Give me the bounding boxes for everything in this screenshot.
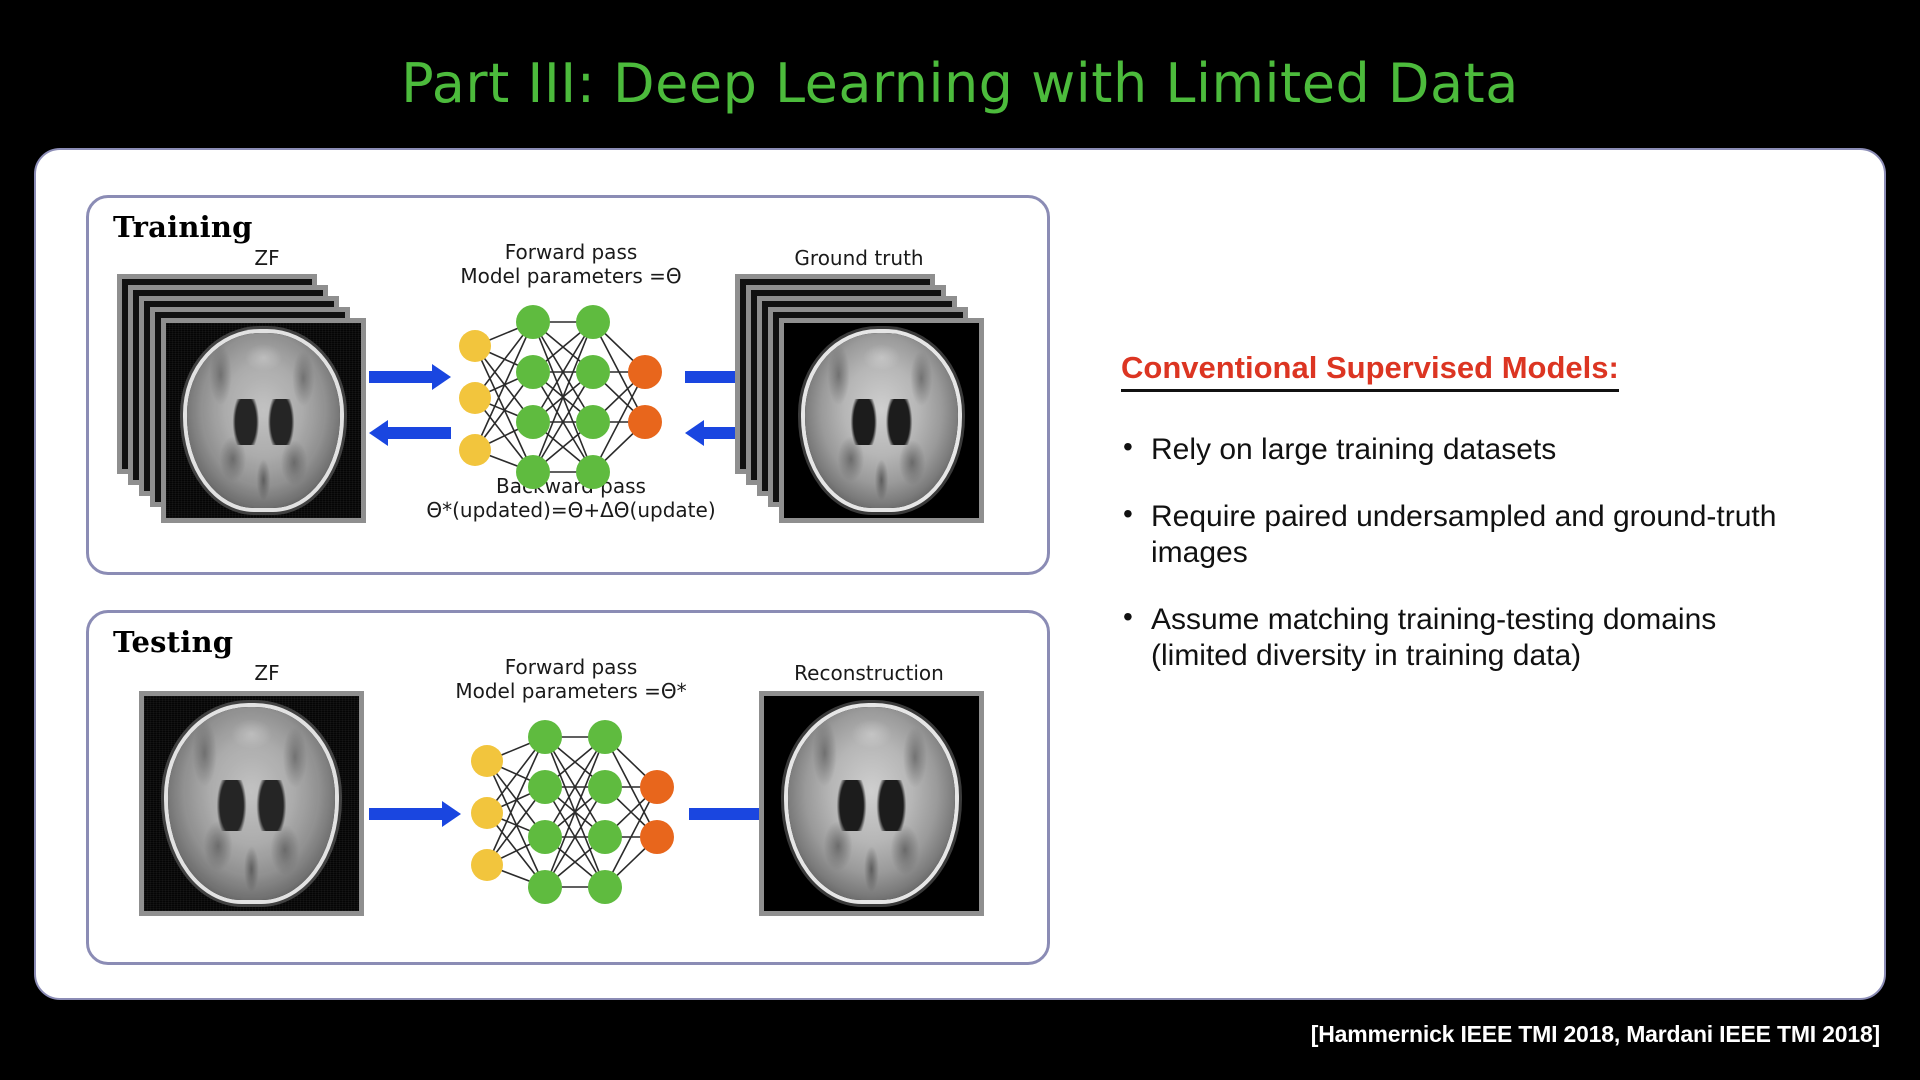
input-node	[459, 330, 491, 362]
input-node	[459, 382, 491, 414]
hidden-node	[528, 720, 562, 754]
testing-forward-pass-label: Forward pass Model parameters =Θ*	[371, 655, 771, 704]
hidden-node	[516, 355, 550, 389]
hidden-node	[588, 720, 622, 754]
network-output-nodes	[640, 770, 674, 854]
hidden-node	[516, 455, 550, 489]
network-input-nodes	[459, 330, 491, 466]
right-column-heading: Conventional Supervised Models:	[1121, 350, 1619, 392]
testing-output-label: Reconstruction	[729, 661, 1009, 685]
testing-panel-title: Testing	[113, 625, 233, 659]
network-edges	[475, 322, 645, 472]
input-node	[471, 849, 503, 881]
training-input-image-stack	[117, 274, 367, 524]
hidden-node	[528, 870, 562, 904]
hidden-node	[588, 770, 622, 804]
backward-pass-line2: Θ*(updated)=Θ+ΔΘ(update)	[371, 498, 771, 522]
arrow-head	[442, 801, 461, 827]
training-forward-pass-label: Forward pass Model parameters =Θ	[371, 240, 771, 289]
content-card: Training ZF Forward pass Model parameter…	[34, 148, 1886, 1000]
training-forward-arrow-left	[369, 364, 451, 390]
slide-canvas: Part III: Deep Learning with Limited Dat…	[0, 0, 1920, 1080]
arrow-head	[369, 420, 388, 446]
hidden-node	[528, 770, 562, 804]
hidden-node	[588, 820, 622, 854]
input-node	[471, 797, 503, 829]
training-output-label: Ground truth	[729, 246, 989, 270]
forward-pass-line2: Model parameters =Θ	[371, 264, 771, 288]
hidden-node	[576, 455, 610, 489]
testing-input-image	[139, 691, 369, 921]
hidden-node	[528, 820, 562, 854]
neural-network-graph	[461, 713, 681, 913]
brain-slice	[788, 707, 956, 901]
arrow-head	[685, 420, 704, 446]
list-item: Assume matching training-testing domains…	[1121, 602, 1821, 673]
forward-pass-line2: Model parameters =Θ*	[371, 679, 771, 703]
testing-input-label: ZF	[207, 661, 327, 685]
forward-pass-line1: Forward pass	[371, 655, 771, 679]
hidden-node	[576, 305, 610, 339]
training-panel-title: Training	[113, 210, 253, 244]
reconstruction-mri-image	[759, 691, 984, 916]
output-node	[640, 770, 674, 804]
forward-pass-line1: Forward pass	[371, 240, 771, 264]
zf-mri-image	[161, 318, 366, 523]
output-node	[628, 355, 662, 389]
arrow-shaft	[386, 427, 451, 439]
arrow-shaft	[369, 808, 444, 820]
network-input-nodes	[471, 745, 503, 881]
hidden-node	[516, 405, 550, 439]
training-backward-arrow-left	[369, 420, 451, 446]
network-output-nodes	[628, 355, 662, 439]
training-neural-network	[449, 298, 669, 498]
network-edges	[487, 737, 657, 887]
right-text-column: Conventional Supervised Models: Rely on …	[1121, 350, 1821, 705]
brain-slice	[168, 707, 336, 901]
testing-neural-network	[461, 713, 681, 913]
training-output-image-stack	[735, 274, 985, 524]
testing-output-image	[759, 691, 989, 921]
hidden-node	[576, 405, 610, 439]
hidden-node	[576, 355, 610, 389]
zf-mri-image	[139, 691, 364, 916]
list-item: Require paired undersampled and ground-t…	[1121, 499, 1821, 570]
arrow-shaft	[369, 371, 434, 383]
citation-footer: [Hammernick IEEE TMI 2018, Mardani IEEE …	[1311, 1021, 1880, 1048]
list-item: Rely on large training datasets	[1121, 432, 1821, 467]
testing-forward-arrow-left	[369, 801, 461, 827]
page-title: Part III: Deep Learning with Limited Dat…	[0, 52, 1920, 115]
testing-panel: Testing ZF Forward pass Model parameters…	[86, 610, 1050, 965]
hidden-node	[588, 870, 622, 904]
ground-truth-mri-image	[779, 318, 984, 523]
training-panel: Training ZF Forward pass Model parameter…	[86, 195, 1050, 575]
brain-slice	[187, 333, 339, 509]
right-column-bullet-list: Rely on large training datasets Require …	[1121, 432, 1821, 673]
output-node	[628, 405, 662, 439]
training-input-label: ZF	[207, 246, 327, 270]
output-node	[640, 820, 674, 854]
arrow-shaft	[689, 808, 764, 820]
input-node	[459, 434, 491, 466]
neural-network-graph	[449, 298, 669, 498]
brain-slice	[805, 333, 957, 509]
input-node	[471, 745, 503, 777]
hidden-node	[516, 305, 550, 339]
